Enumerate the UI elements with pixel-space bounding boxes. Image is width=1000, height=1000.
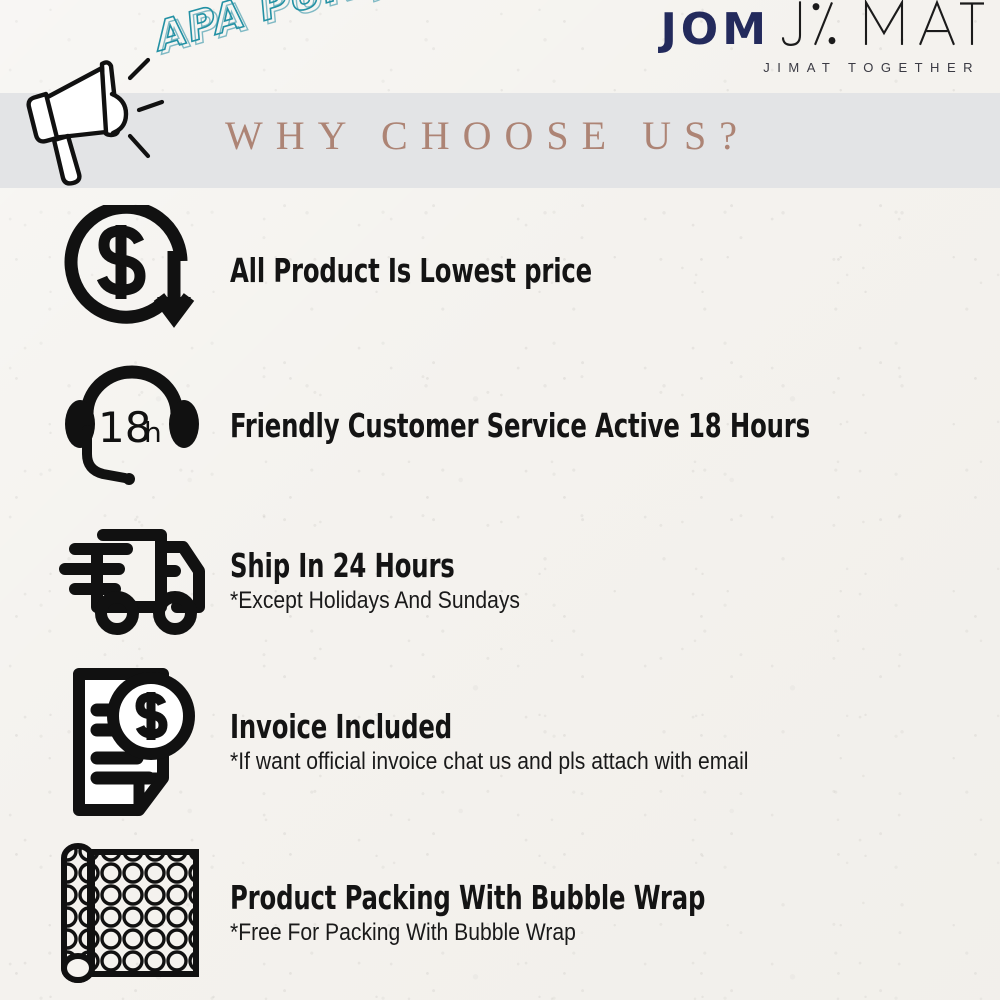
feature-row: All Product Is Lowest price [0,196,1000,346]
feature-title: Friendly Customer Service Active 18 Hour… [230,408,810,444]
feature-title: Invoice Included [230,709,713,745]
invoice-dollar-icon [52,667,212,817]
page-title: WHY CHOOSE US? [225,112,925,159]
dollar-refresh-icon [52,196,212,346]
feature-list: All Product Is Lowest price 18 h Friendl… [0,196,1000,998]
promo-sticker: APA PUN JUAL APA PUN JUAL [150,0,481,60]
feature-text: Invoice Included *If want official invoi… [230,709,819,775]
headset-hours-suffix: h [144,416,162,449]
logo-jimat-svg [780,0,986,50]
feature-title: Ship In 24 Hours [230,548,500,584]
delivery-truck-icon [52,506,212,656]
feature-row: Ship In 24 Hours *Except Holidays And Su… [0,506,1000,656]
megaphone-sound-rays [130,60,162,156]
feature-row: 18 h Friendly Customer Service Active 18… [0,346,1000,506]
feature-subtitle: *If want official invoice chat us and pl… [230,748,748,776]
brand-logo: JOM [660,2,986,75]
feature-text: All Product Is Lowest price [230,253,672,289]
logo-jom-text: JOM [660,2,770,58]
bubble-wrap-icon [52,838,212,988]
logo-jimat-text [780,0,986,63]
feature-subtitle: *Free For Packing With Bubble Wrap [230,919,740,947]
feature-text: Product Packing With Bubble Wrap *Free F… [230,880,810,946]
feature-title: All Product Is Lowest price [230,253,592,289]
feature-row: Invoice Included *If want official invoi… [0,656,1000,828]
feature-subtitle: *Except Holidays And Sundays [230,587,520,615]
feature-row: Product Packing With Bubble Wrap *Free F… [0,828,1000,998]
headset-18h-icon: 18 h [52,351,212,501]
megaphone-icon [6,52,166,192]
logo-wordmark: JOM [660,2,986,58]
feature-text: Ship In 24 Hours *Except Holidays And Su… [230,548,560,614]
feature-text: Friendly Customer Service Active 18 Hour… [230,408,937,444]
feature-title: Product Packing With Bubble Wrap [230,880,705,916]
